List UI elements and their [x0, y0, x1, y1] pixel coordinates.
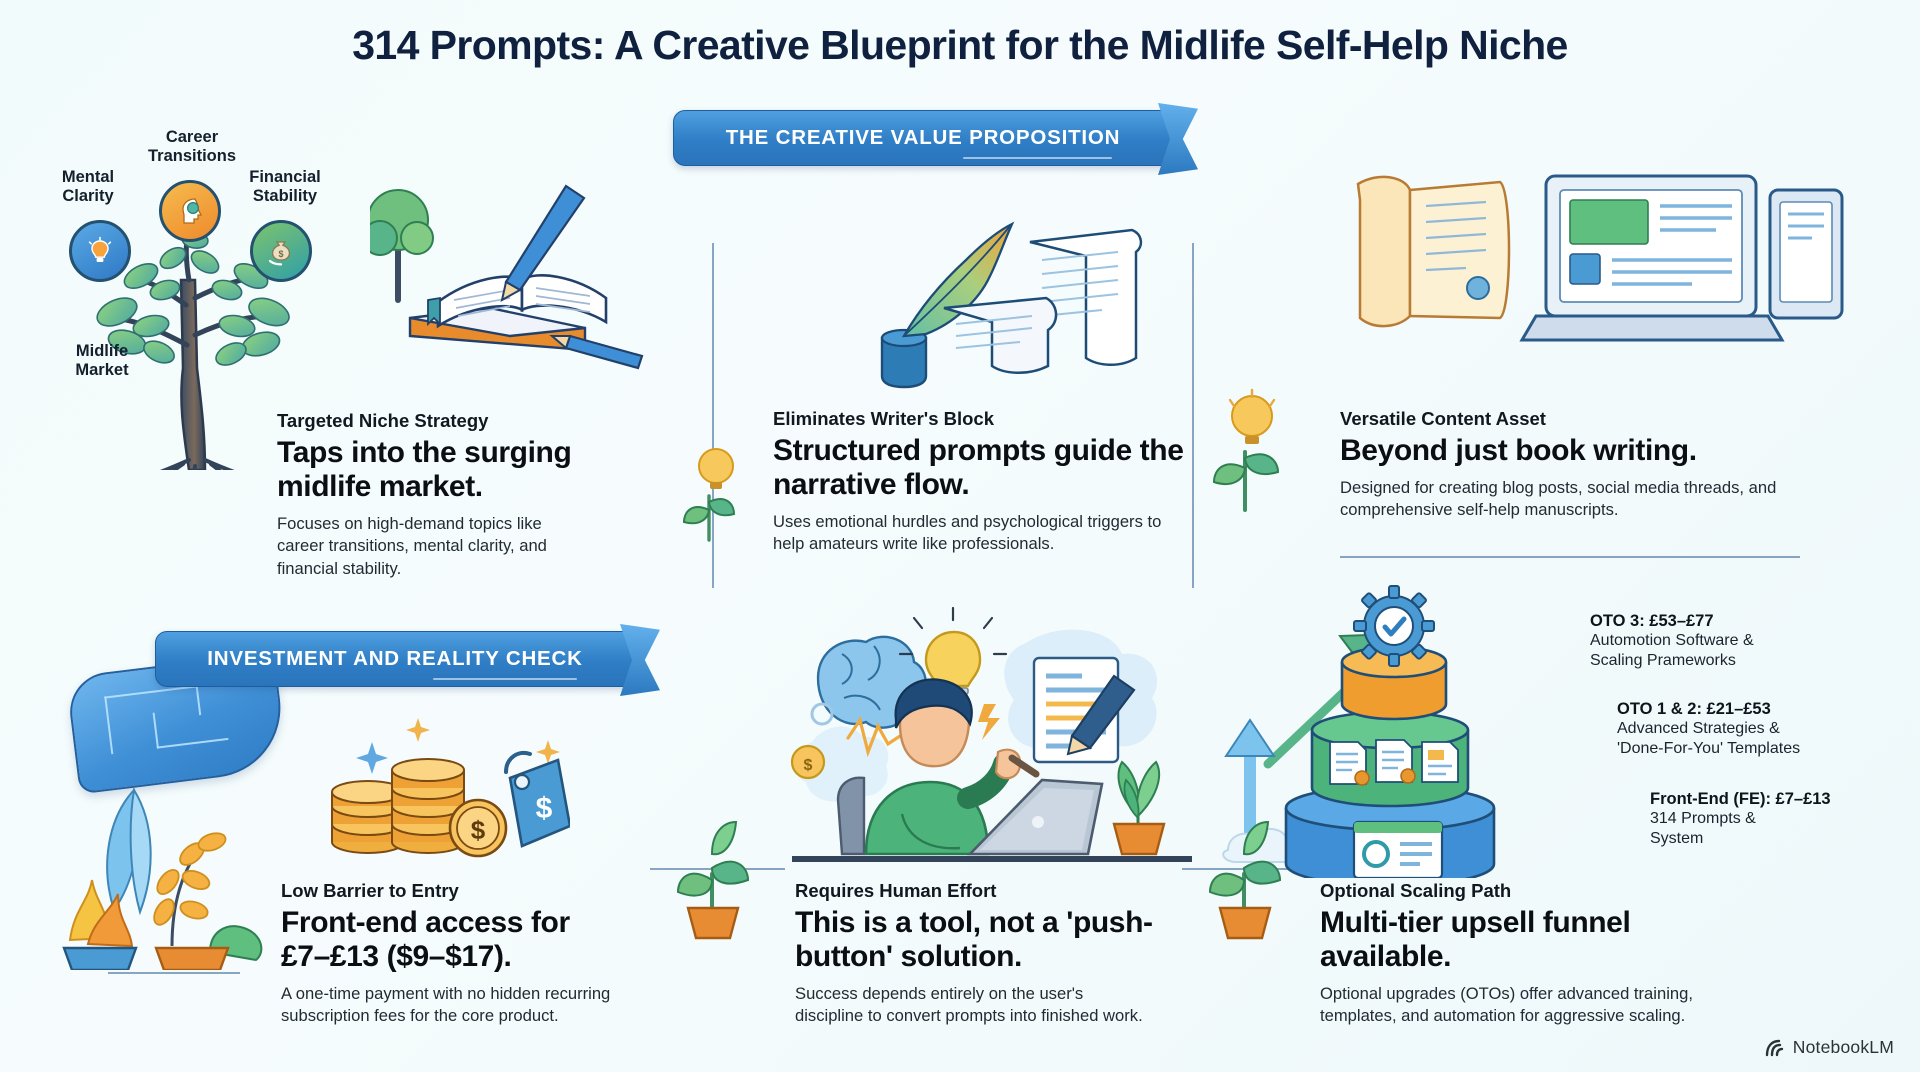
card-low-barrier-to-entry: Low Barrier to Entry Front-end access fo… [281, 880, 611, 1028]
front-end-title: Front-End (FE): £7–£13 [1650, 790, 1920, 809]
card-body: Designed for creating blog posts, social… [1340, 477, 1780, 521]
page-title: 314 Prompts: A Creative Blueprint for th… [0, 22, 1920, 69]
sprout-icon-top-right [1200, 388, 1270, 484]
front-end-label: Front-End (FE): £7–£13 314 Prompts & Sys… [1650, 790, 1920, 849]
card-eyebrow: Requires Human Effort [795, 880, 1155, 902]
coins-and-price-tag-illustration: $ $ [310, 700, 570, 860]
money-bag-icon: $ [264, 234, 298, 268]
card-eyebrow: Low Barrier to Entry [281, 880, 611, 902]
banner-underline [963, 157, 1112, 159]
notebooklm-watermark: NotebookLM [1764, 1037, 1894, 1058]
tree-label-midlife-market: Midlife Market [47, 342, 157, 380]
oto-3-desc-line1: Automotion Software & [1590, 631, 1850, 651]
oto-1-2-desc-line2: 'Done-For-You' Templates [1617, 739, 1907, 759]
quill-and-scrolls-illustration [880, 190, 1210, 390]
banner-investment-and-reality-check: INVESTMENT AND REALITY CHECK [155, 631, 635, 687]
oto-1-2-title: OTO 1 & 2: £21–£53 [1617, 700, 1907, 719]
mental-clarity-node-icon [69, 220, 131, 282]
front-end-desc-line1: 314 Prompts & [1650, 809, 1920, 829]
tree-label-midlife-line2: Market [47, 361, 157, 380]
career-transitions-node-icon [159, 180, 221, 242]
front-end-desc-line2: System [1650, 829, 1920, 849]
card-headline: This is a tool, not a 'push-button' solu… [795, 906, 1155, 974]
card-headline: Front-end access for £7–£13 ($9–$17). [281, 906, 611, 974]
tree-label-mental-line2: Clarity [33, 187, 143, 206]
card-body: A one-time payment with no hidden recurr… [281, 983, 611, 1027]
card-body: Uses emotional hurdles and psychological… [773, 511, 1193, 555]
card-body: Optional upgrades (OTOs) offer advanced … [1320, 983, 1750, 1027]
lightbulb-icon [84, 235, 116, 267]
tree-label-mental: Mental Clarity [33, 168, 143, 206]
svg-text:$: $ [536, 792, 553, 825]
tree-label-career-line1: Career [127, 128, 257, 147]
financial-stability-node-icon: $ [250, 220, 312, 282]
card-headline: Beyond just book writing. [1340, 434, 1780, 468]
divider-horizontal-left-bottom [108, 972, 240, 974]
card-eyebrow: Eliminates Writer's Block [773, 408, 1193, 430]
decorative-plants-illustration [60, 770, 290, 970]
sprout-icon-bottom-left [668, 810, 738, 906]
tree-label-financial-line2: Stability [225, 187, 345, 206]
card-targeted-niche-strategy: Targeted Niche Strategy Taps into the su… [277, 410, 577, 580]
card-headline: Structured prompts guide the narrative f… [773, 434, 1193, 502]
oto-3-title: OTO 3: £53–£77 [1590, 612, 1850, 631]
tree-label-financial-line1: Financial [225, 168, 345, 187]
card-headline: Taps into the surging midlife market. [277, 436, 577, 504]
head-brain-icon [173, 194, 207, 228]
card-versatile-content-asset: Versatile Content Asset Beyond just book… [1340, 408, 1780, 521]
card-optional-scaling-path: Optional Scaling Path Multi-tier upsell … [1320, 880, 1750, 1028]
card-body: Focuses on high-demand topics like caree… [277, 513, 577, 579]
card-eyebrow: Targeted Niche Strategy [277, 410, 577, 432]
sprout-icon-top-left [672, 440, 742, 536]
banner-creative-value-proposition: THE CREATIVE VALUE PROPOSITION [673, 110, 1173, 166]
banner-underline [433, 678, 576, 680]
card-body: Success depends entirely on the user's d… [795, 983, 1155, 1027]
card-eyebrow: Optional Scaling Path [1320, 880, 1750, 902]
tree-label-midlife-line1: Midlife [47, 342, 157, 361]
card-requires-human-effort: Requires Human Effort This is a tool, no… [795, 880, 1155, 1028]
scroll-laptop-illustration [1340, 160, 1860, 360]
oto-1-2-label: OTO 1 & 2: £21–£53 Advanced Strategies &… [1617, 700, 1907, 759]
card-eliminates-writers-block: Eliminates Writer's Block Structured pro… [773, 408, 1193, 556]
notebooklm-logo-icon [1764, 1039, 1786, 1057]
oto-1-2-desc-line1: Advanced Strategies & [1617, 719, 1907, 739]
banner-investment-label: INVESTMENT AND REALITY CHECK [207, 647, 582, 671]
divider-horizontal-right-top [1340, 556, 1800, 558]
oto-3-desc-line2: Scaling Prameworks [1590, 651, 1850, 671]
card-headline: Multi-tier upsell funnel available. [1320, 906, 1750, 974]
tree-label-financial: Financial Stability [225, 168, 345, 206]
sprout-icon-bottom-right [1200, 810, 1270, 906]
person-at-laptop-illustration: $ [782, 592, 1202, 867]
watermark-label: NotebookLM [1793, 1037, 1894, 1058]
oto-3-label: OTO 3: £53–£77 Automotion Software & Sca… [1590, 612, 1850, 671]
tree-label-mental-line1: Mental [33, 168, 143, 187]
banner-value-label: THE CREATIVE VALUE PROPOSITION [726, 126, 1121, 150]
open-books-illustration [370, 150, 670, 380]
tree-label-career: Career Transitions [127, 128, 257, 166]
svg-text:$: $ [804, 757, 813, 774]
svg-text:$: $ [471, 815, 486, 845]
tree-label-career-line2: Transitions [127, 147, 257, 166]
card-eyebrow: Versatile Content Asset [1340, 408, 1780, 430]
svg-text:$: $ [278, 249, 283, 259]
